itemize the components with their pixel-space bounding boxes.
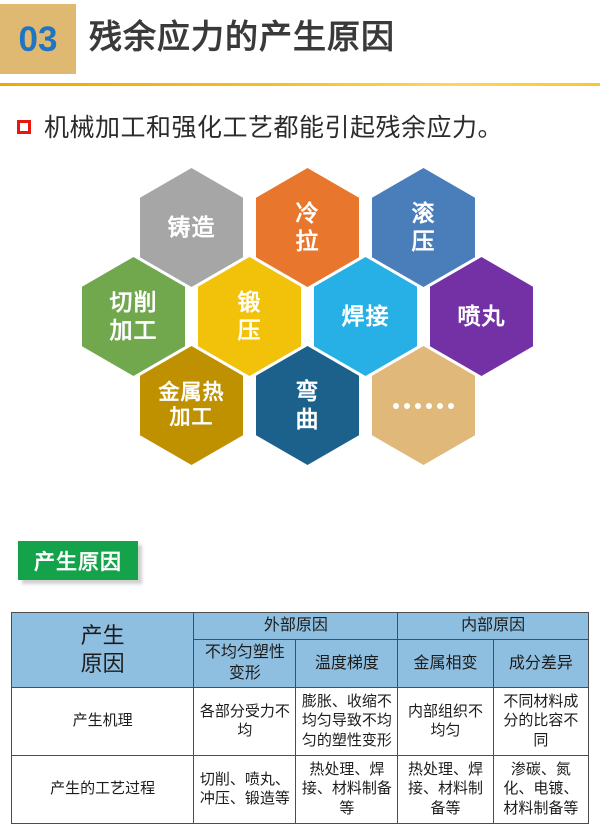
table-corner-header: 产生原因: [12, 613, 194, 688]
page-header: 03 残余应力的产生原因: [0, 0, 600, 88]
table-cell-process-internal-phase: 热处理、焊接、材料制备等: [398, 756, 493, 824]
header-divider-rule: [0, 83, 600, 86]
table-subheader-metal-phase-change: 金属相变: [398, 640, 493, 688]
hex-metal-heat-treatment-label: 金属热 加工: [159, 381, 225, 431]
hex-shot-peening: 喷丸: [430, 257, 533, 376]
hex-bending: 弯 曲: [256, 346, 359, 465]
table-cell-process-internal-composition: 渗碳、氮化、电镀、材料制备等: [493, 756, 588, 824]
table-row-label-process: 产生的工艺过程: [12, 756, 194, 824]
hex-metal-heat-treatment: 金属热 加工: [140, 346, 243, 465]
hex-welding-label: 焊接: [342, 304, 390, 328]
table-cell-mechanism-external-deformation: 各部分受力不均: [194, 688, 296, 756]
hex-rolling: 滚 压: [372, 168, 475, 287]
hex-cutting-label: 切削 加工: [110, 289, 158, 343]
section-number-badge: 03: [0, 4, 76, 74]
table-group-header-internal: 内部原因: [398, 613, 589, 640]
table-group-header-external: 外部原因: [194, 613, 398, 640]
table-cell-mechanism-external-temperature: 膨胀、收缩不均匀导致不均匀的塑性变形: [296, 688, 398, 756]
hex-cutting: 切削 加工: [82, 257, 185, 376]
table-cell-mechanism-internal-composition: 不同材料成分的比容不同: [493, 688, 588, 756]
table-cell-process-external-temperature: 热处理、焊接、材料制备等: [296, 756, 398, 824]
table-header-row-1: 产生原因 外部原因 内部原因: [12, 613, 589, 640]
table-cell-process-external-deformation: 切削、喷丸、冲压、锻造等: [194, 756, 296, 824]
cause-table: 产生原因 外部原因 内部原因 不均匀塑性变形 温度梯度 金属相变 成分差异 产生…: [11, 612, 589, 824]
hex-casting: 铸造: [140, 168, 243, 287]
hex-forging-label: 锻 压: [238, 289, 262, 343]
table-row: 产生的工艺过程 切削、喷丸、冲压、锻造等 热处理、焊接、材料制备等 热处理、焊接…: [12, 756, 589, 824]
hex-casting-label: 铸造: [168, 215, 216, 239]
hex-etcetera: [372, 346, 475, 465]
table-subheader-uneven-plastic-deformation: 不均匀塑性变形: [194, 640, 296, 688]
hexagon-cluster: 铸造 冷 拉 滚 压 切削 加工 锻 压 焊接 喷丸 金属热 加: [0, 160, 600, 530]
hex-forging: 锻 压: [198, 257, 301, 376]
hex-rolling-label: 滚 压: [412, 200, 436, 254]
hex-bending-label: 弯 曲: [296, 378, 320, 432]
hex-welding: 焊接: [314, 257, 417, 376]
table-row-label-mechanism: 产生机理: [12, 688, 194, 756]
hex-cold-drawing-label: 冷 拉: [296, 200, 320, 254]
cause-section-badge: 产生原因: [18, 541, 138, 580]
table-subheader-composition-difference: 成分差异: [493, 640, 588, 688]
table-subheader-temperature-gradient: 温度梯度: [296, 640, 398, 688]
table-row: 产生机理 各部分受力不均 膨胀、收缩不均匀导致不均匀的塑性变形 内部组织不均匀 …: [12, 688, 589, 756]
red-square-bullet-icon: [17, 120, 31, 134]
hex-cold-drawing: 冷 拉: [256, 168, 359, 287]
table-cell-mechanism-internal-phase: 内部组织不均匀: [398, 688, 493, 756]
ellipsis-dots-icon: [393, 403, 454, 409]
cause-section-badge-label: 产生原因: [34, 546, 122, 576]
bullet-row: 机械加工和强化工艺都能引起残余应力。: [0, 110, 600, 152]
page-title: 残余应力的产生原因: [89, 12, 395, 62]
bullet-text: 机械加工和强化工艺都能引起残余应力。: [44, 111, 503, 146]
section-number: 03: [19, 22, 58, 57]
hex-shot-peening-label: 喷丸: [458, 304, 506, 328]
